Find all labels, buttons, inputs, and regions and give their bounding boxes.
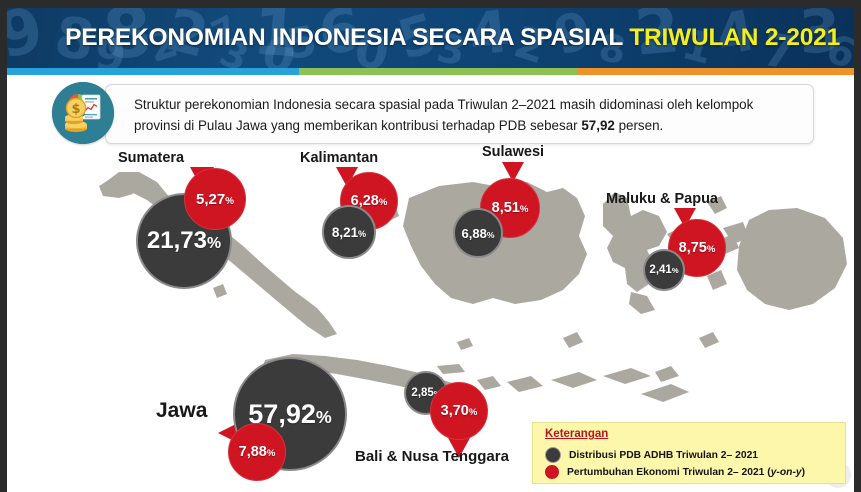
- region-label-bali-nusa: Bali & Nusa Tenggara: [355, 448, 509, 465]
- bubble-value-maluku-papua-pertumbuhan: 8,75: [679, 240, 707, 256]
- bubble-value-bali-nusa-distribusi: 2,85: [411, 387, 433, 399]
- header-title-period: TRIWULAN 2-2021: [629, 24, 840, 51]
- dark-circle-marker-icon: [545, 447, 561, 463]
- percent-sign: %: [225, 196, 234, 207]
- bubble-distribusi-maluku-papua: 2,41%: [643, 249, 685, 291]
- legend-pertumbuhan-main: Pertumbuhan Ekonomi Triwulan 2– 2021 (: [567, 467, 771, 478]
- bubble-value-sumatera-distribusi: 21,73: [147, 227, 207, 254]
- summary-callout-box: Struktur perekonomian Indonesia secara s…: [105, 84, 814, 144]
- bubble-pertumbuhan-sumatera: 5,27%: [184, 168, 246, 230]
- bubble-value-jawa-pertumbuhan: 7,88: [239, 444, 267, 460]
- percent-sign: %: [207, 235, 221, 252]
- color-bar-green-segment: [299, 68, 577, 75]
- bubble-value-sumatera-pertumbuhan: 5,27: [196, 191, 225, 208]
- region-label-sulawesi: Sulawesi: [482, 144, 544, 160]
- money-chart-icon: $: [52, 82, 114, 144]
- summary-text-part2: persen.: [615, 118, 663, 133]
- legend-item-distribusi: Distribusi PDB ADHB Triwulan 2– 2021: [545, 447, 758, 463]
- region-label-maluku-papua: Maluku & Papua: [606, 191, 718, 207]
- percent-sign: %: [316, 407, 332, 427]
- percent-sign: %: [672, 266, 679, 275]
- percent-sign: %: [267, 448, 276, 459]
- header-title: PEREKONOMIAN INDONESIA SECARA SPASIAL TR…: [65, 24, 840, 52]
- percent-sign: %: [520, 204, 529, 215]
- legend-pertumbuhan-yoy: y-on-y: [771, 467, 802, 478]
- bubble-value-sulawesi-pertumbuhan: 8,51: [492, 200, 520, 216]
- header-banner: 9 8 8 9 2 2 7 3 1 5 0 6 0 5 3 4 2 9 8 2 …: [7, 8, 854, 68]
- summary-text-highlight: 57,92: [581, 118, 615, 133]
- header-title-main: PEREKONOMIAN INDONESIA SECARA SPASIAL: [65, 24, 623, 51]
- bubble-value-sulawesi-distribusi: 6,88: [462, 226, 487, 241]
- legend-item-distribusi-label: Distribusi PDB ADHB Triwulan 2– 2021: [569, 450, 758, 461]
- bubble-value-bali-nusa-pertumbuhan: 3,70: [441, 403, 469, 419]
- percent-sign: %: [487, 230, 495, 240]
- legend-item-pertumbuhan: Pertumbuhan Ekonomi Triwulan 2– 2021 (y-…: [545, 465, 805, 479]
- legend-box: Keterangan Distribusi PDB ADHB Triwulan …: [532, 422, 846, 484]
- percent-sign: %: [379, 197, 388, 208]
- percent-sign: %: [707, 244, 716, 255]
- red-circle-marker-icon: [545, 465, 559, 479]
- infographic-root: 9 8 8 9 2 2 7 3 1 5 0 6 0 5 3 4 2 9 8 2 …: [0, 0, 861, 492]
- legend-title: Keterangan: [545, 428, 608, 440]
- color-bar-orange-segment: [577, 68, 854, 75]
- bubble-value-maluku-papua-distribusi: 2,41: [649, 264, 671, 276]
- bubble-pertumbuhan-bali-nusa: 3,70%: [430, 382, 488, 440]
- bubble-distribusi-sulawesi: 6,88%: [453, 208, 503, 258]
- bubble-pertumbuhan-jawa: 7,88%: [228, 423, 286, 481]
- region-label-jawa: Jawa: [156, 399, 207, 423]
- frame-top-border: [0, 0, 861, 8]
- legend-pertumbuhan-end: ): [802, 467, 805, 478]
- svg-text:$: $: [71, 102, 80, 117]
- color-bar-blue-segment: [7, 68, 299, 75]
- region-label-kalimantan: Kalimantan: [300, 150, 378, 166]
- bubble-value-kalimantan-distribusi: 8,21: [332, 225, 358, 240]
- accent-color-bar: [7, 68, 854, 75]
- region-label-sumatera: Sumatera: [118, 150, 184, 166]
- frame-left-border: [0, 0, 7, 492]
- frame-right-border: [854, 0, 861, 492]
- percent-sign: %: [358, 229, 366, 239]
- legend-item-pertumbuhan-label: Pertumbuhan Ekonomi Triwulan 2– 2021 (y-…: [567, 467, 805, 478]
- bubble-distribusi-kalimantan: 8,21%: [322, 205, 376, 259]
- percent-sign: %: [469, 407, 478, 418]
- summary-text: Struktur perekonomian Indonesia secara s…: [134, 94, 799, 136]
